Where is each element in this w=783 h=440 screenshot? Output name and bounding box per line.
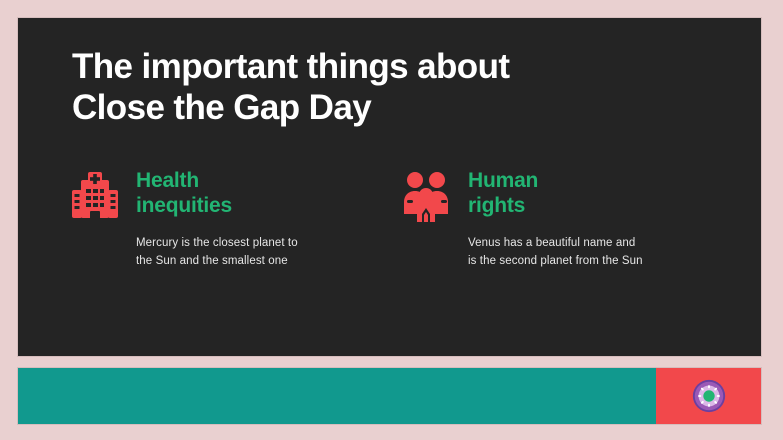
feature-title-line-1: Health: [136, 168, 232, 193]
feature-title: Human rights: [468, 168, 538, 218]
feature-title-line-2: rights: [468, 193, 538, 218]
footer-teal-band: [18, 368, 656, 424]
feature-title: Health inequities: [136, 168, 232, 218]
circular-badge-logo: [690, 377, 728, 415]
feature-body-text: Venus has a beautiful name and is the se…: [468, 234, 643, 270]
people-group-icon: [404, 170, 450, 222]
feature-body-text: Mercury is the closest planet to the Sun…: [136, 234, 311, 270]
feature-title-line-2: inequities: [136, 193, 232, 218]
feature-item-health-inequities: Health inequities Mercury is the closest…: [72, 168, 342, 270]
footer-bar: [17, 367, 762, 425]
feature-list: Health inequities Mercury is the closest…: [72, 168, 712, 270]
feature-item-human-rights: Human rights Venus has a beautiful name …: [404, 168, 674, 270]
feature-header: Health inequities: [72, 168, 342, 222]
slide-panel: The important things about Close the Gap…: [17, 17, 762, 357]
page-title: The important things about Close the Gap…: [72, 46, 712, 128]
hospital-icon: [72, 170, 118, 222]
feature-title-line-1: Human: [468, 168, 538, 193]
title-line-2: Close the Gap Day: [72, 87, 712, 128]
title-line-1: The important things about: [72, 46, 712, 87]
footer-logo-band: [656, 368, 761, 424]
feature-header: Human rights: [404, 168, 674, 222]
